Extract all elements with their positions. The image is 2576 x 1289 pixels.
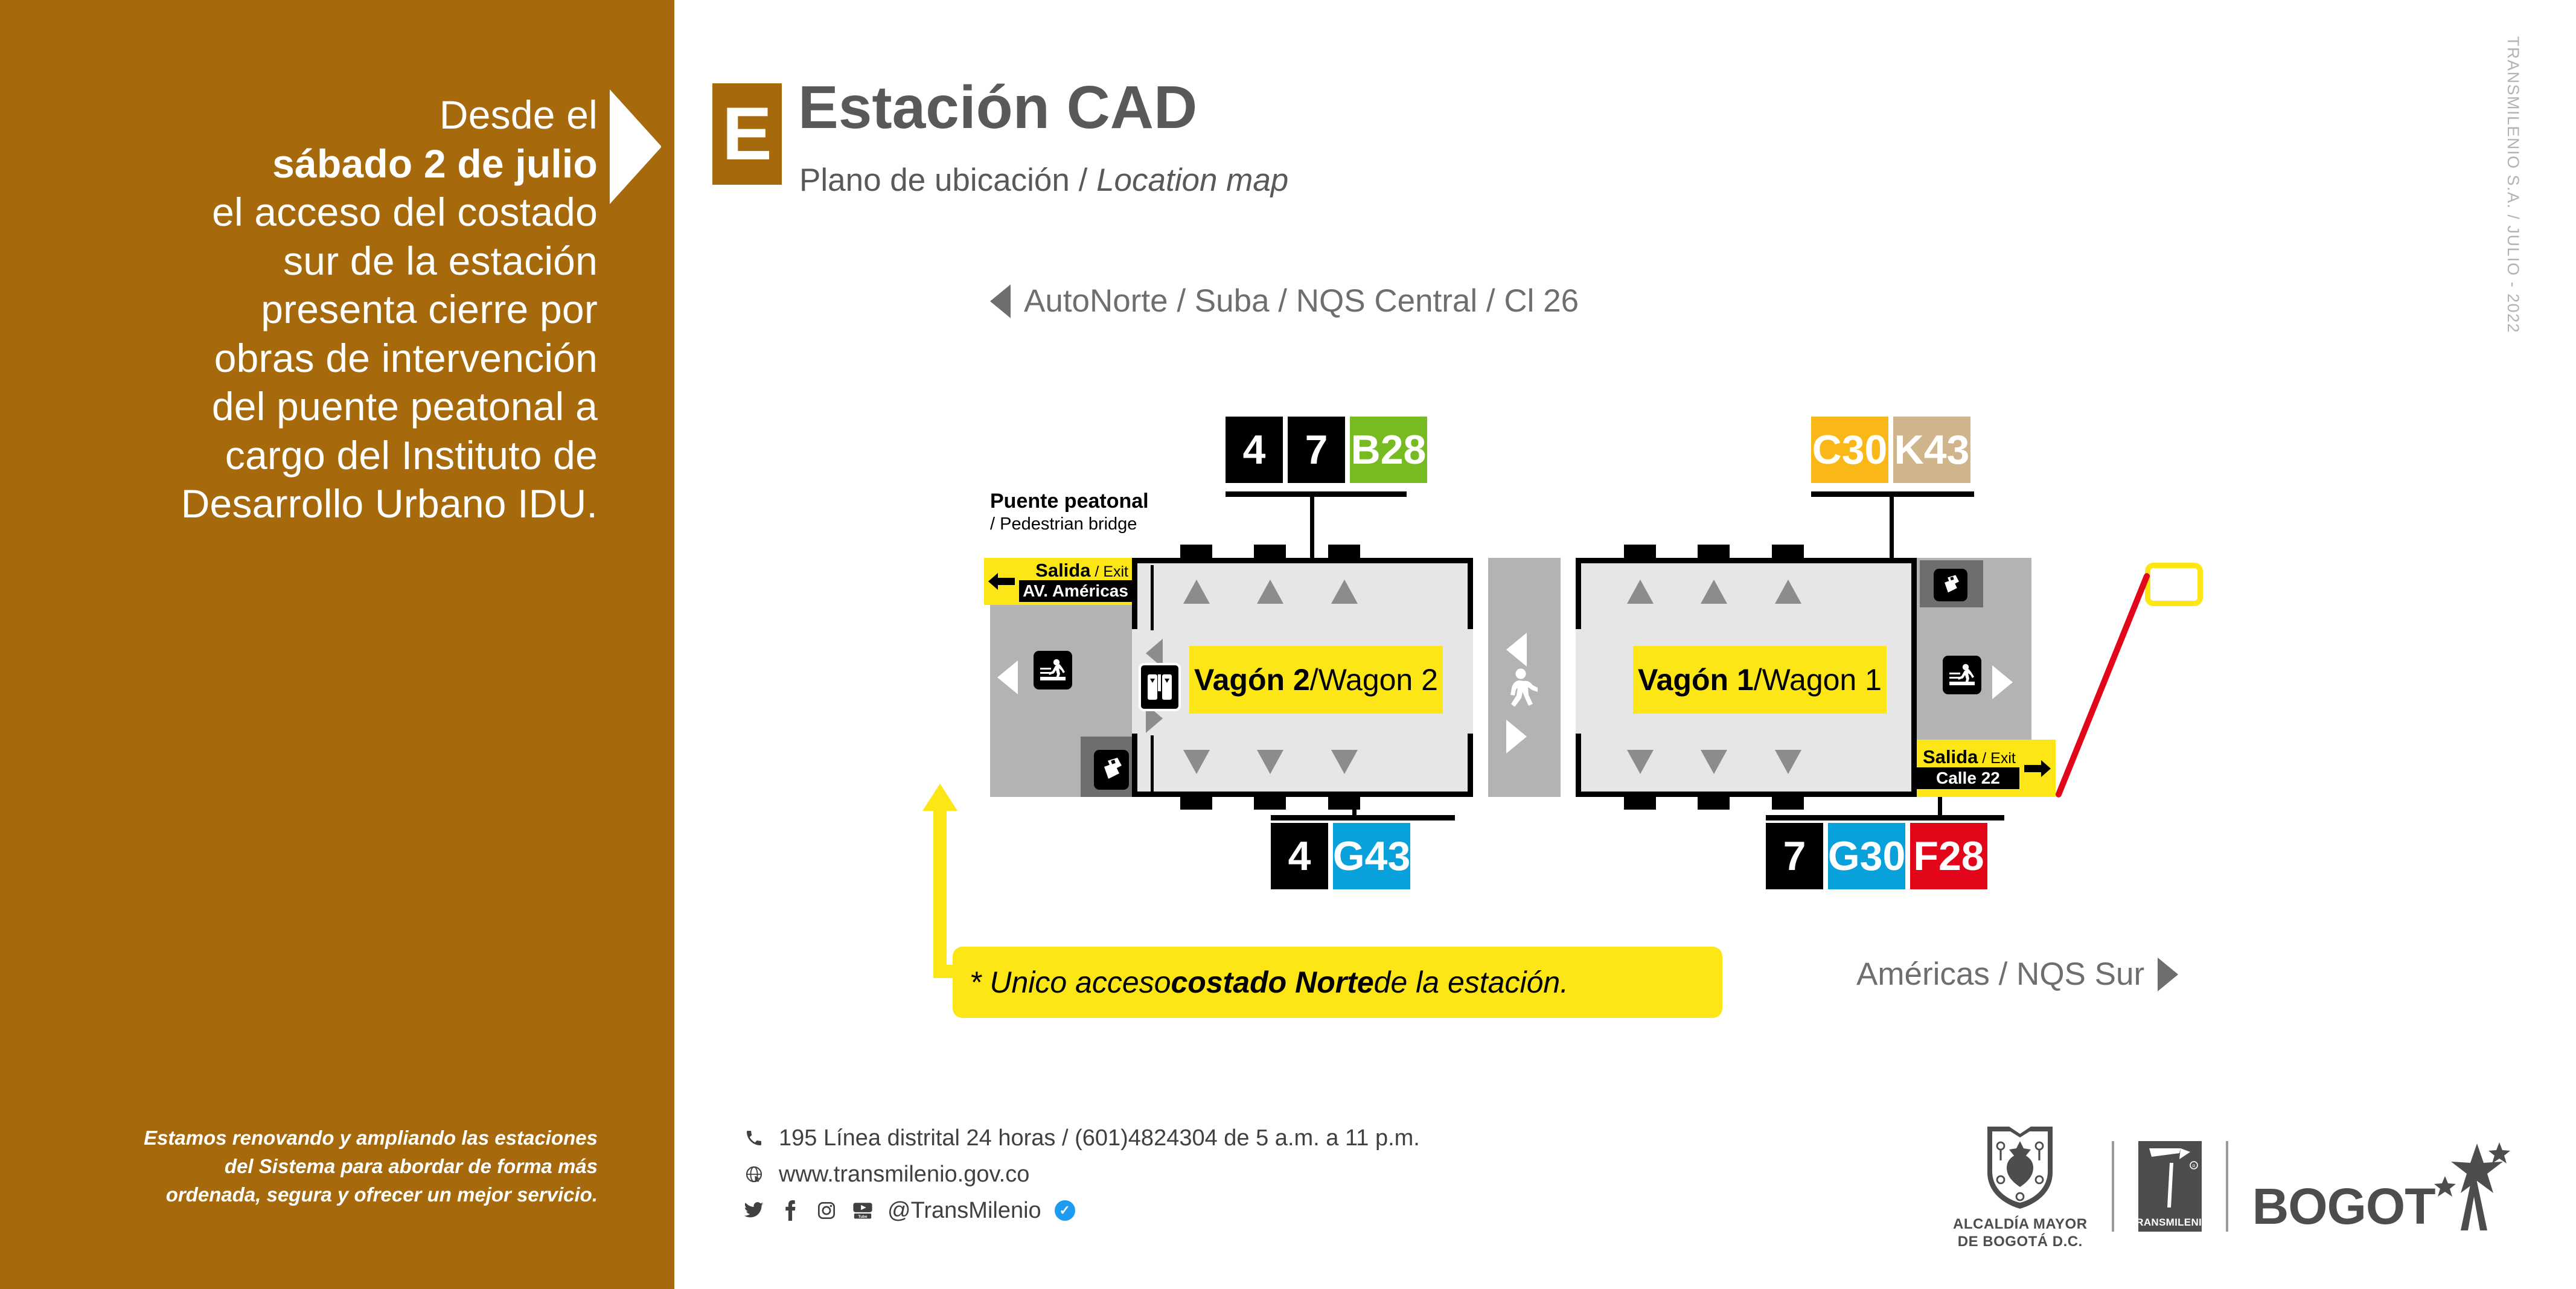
route-badge[interactable]: F28 xyxy=(1910,823,1987,889)
headline-line: obras de intervención xyxy=(36,334,598,383)
crosswalk-icon xyxy=(1034,651,1072,689)
wagon1-door-bottom xyxy=(1698,796,1730,810)
flow-arrow-up xyxy=(1183,580,1210,604)
wagon2-label-sep: / xyxy=(1310,662,1318,697)
bridge-label-en: / Pedestrian bridge xyxy=(990,514,1149,535)
footer-web-row[interactable]: www.transmilenio.gov.co xyxy=(743,1156,1420,1192)
exit-sign-west-top: Salida / Exit xyxy=(1019,561,1132,581)
crosswalk-icon xyxy=(1943,656,1981,694)
exit-sign-west[interactable]: Salida / Exit AV. Américas xyxy=(984,558,1132,605)
wagon1-label-es: Vagón 1 xyxy=(1638,662,1754,697)
exit-sign-west-street: AV. Américas xyxy=(1019,580,1132,602)
flow-arrow-down xyxy=(1183,750,1210,774)
wagon1-door-top xyxy=(1698,545,1730,558)
panel-footer-line: del Sistema para abordar de forma más xyxy=(36,1153,598,1181)
badge-stem xyxy=(1890,491,1894,563)
station-platform-diagram: Salida / Exit AV. Américas xyxy=(990,561,2143,797)
globe-icon xyxy=(743,1163,765,1186)
wagon2-wall-right-b xyxy=(1468,734,1473,797)
wagon1-wall-left-a xyxy=(1576,558,1581,629)
alcaldia-caption-line2: DE BOGOTÁ D.C. xyxy=(1958,1233,2083,1250)
flow-arrow-down xyxy=(1627,750,1654,774)
bogota-star-a-icon xyxy=(2432,1141,2510,1232)
wagon1-label-en: Wagon 1 xyxy=(1762,662,1882,697)
route-badge[interactable]: 4 xyxy=(1271,823,1328,889)
wagon1-wall-right xyxy=(1911,558,1917,797)
exit-word-es: Salida xyxy=(1035,560,1090,581)
institutional-logos: ALCALDÍA MAYOR DE BOGOTÁ D.C. R TRANSMIL… xyxy=(1929,1122,2534,1251)
badge-crossbar xyxy=(1271,815,1455,820)
wagon2-inner-line-bottom xyxy=(1151,735,1154,793)
headline-line: Desarrollo Urbano IDU. xyxy=(36,479,598,528)
alcaldia-logo: ALCALDÍA MAYOR DE BOGOTÁ D.C. xyxy=(1929,1122,2112,1251)
wagon1-wall-top xyxy=(1576,558,1917,563)
footer-phone-row: 195 Línea distrital 24 horas / (601)4824… xyxy=(743,1120,1420,1156)
transmilenio-logo: R TRANSMILENIO xyxy=(2114,1141,2226,1232)
panel-footer-line: Estamos renovando y ampliando las estaci… xyxy=(36,1124,598,1153)
flow-arrow-up xyxy=(1775,580,1801,604)
direction-north: AutoNorte / Suba / NQS Central / Cl 26 xyxy=(990,283,1579,319)
wagon2-label: Vagón 2 / Wagon 2 xyxy=(1189,646,1443,714)
direction-south: Américas / NQS Sur xyxy=(1856,956,2178,993)
badge-stem xyxy=(1352,797,1357,816)
bogota-coat-of-arms-icon xyxy=(1984,1122,2056,1211)
wagon2-door-top xyxy=(1328,545,1360,558)
arrow-left-icon xyxy=(1506,633,1527,667)
arrow-right-icon xyxy=(1506,720,1527,753)
footer-web-text: www.transmilenio.gov.co xyxy=(779,1156,1029,1192)
direction-south-label: Américas / NQS Sur xyxy=(1856,956,2144,993)
pedestrian-icon xyxy=(1506,668,1538,706)
flow-arrow-down xyxy=(1331,750,1358,774)
headline-line: sur de la estación xyxy=(36,237,598,286)
wagon1-label: Vagón 1 / Wagon 1 xyxy=(1633,646,1887,714)
flow-arrow-down xyxy=(1257,750,1283,774)
phone-icon xyxy=(743,1127,765,1150)
headline-line: del puente peatonal a xyxy=(36,382,598,431)
youtube-icon[interactable]: Tube xyxy=(851,1199,874,1222)
station-letter-badge: E xyxy=(712,83,782,185)
wagon2-door-top xyxy=(1254,545,1286,558)
route-badge[interactable]: C30 xyxy=(1811,417,1888,483)
flow-arrow-up xyxy=(1331,580,1358,604)
wagon2-label-en: Wagon 2 xyxy=(1318,662,1438,697)
headline-line: presenta cierre por xyxy=(36,285,598,334)
wagon1-door-top xyxy=(1772,545,1804,558)
exit-word-en: / Exit xyxy=(1090,563,1128,580)
verified-check-icon: ✓ xyxy=(1055,1200,1075,1221)
wagon2-door-bottom xyxy=(1254,796,1286,810)
wagon2-wall-left-a xyxy=(1132,558,1137,629)
bogota-wordmark: BOGOT xyxy=(2252,1181,2435,1232)
footer-social-row: Tube @TransMilenio ✓ xyxy=(743,1192,1420,1229)
exit-sign-east-street: Calle 22 xyxy=(1917,767,2019,789)
wagon1-door-bottom xyxy=(1772,796,1804,810)
exit-word-es: Salida xyxy=(1923,746,1978,767)
arrow-right-icon xyxy=(2158,958,2178,991)
alcaldia-caption-line1: ALCALDÍA MAYOR xyxy=(1953,1216,2088,1232)
wagon2-label-es: Vagón 2 xyxy=(1194,662,1310,697)
turnstile-icon xyxy=(1139,663,1181,711)
route-badges-top-left: 4 7 B28 xyxy=(1226,417,1427,483)
route-badge[interactable]: 7 xyxy=(1288,417,1345,483)
footer-handle: @TransMilenio xyxy=(887,1192,1041,1229)
callout-suffix: de la estación. xyxy=(1374,965,1568,1000)
callout-arrow-shaft-vertical xyxy=(933,797,947,978)
flow-arrow-up xyxy=(1701,580,1727,604)
route-badge[interactable]: 4 xyxy=(1226,417,1283,483)
arrow-left-icon xyxy=(997,660,1018,694)
headline-line: cargo del Instituto de xyxy=(36,431,598,480)
route-badge[interactable]: 7 xyxy=(1766,823,1823,889)
badge-stem xyxy=(1938,797,1942,816)
wagon2-door-top xyxy=(1180,545,1212,558)
svg-text:R: R xyxy=(2192,1164,2195,1168)
card-validator-icon xyxy=(1934,569,1967,601)
route-badge[interactable]: K43 xyxy=(1893,417,1970,483)
callout-prefix: * Unico acceso xyxy=(970,965,1171,1000)
contact-footer: 195 Línea distrital 24 horas / (601)4824… xyxy=(743,1120,1420,1229)
facebook-icon[interactable] xyxy=(779,1199,802,1222)
twitter-icon[interactable] xyxy=(743,1199,765,1222)
flow-arrow-down xyxy=(1701,750,1727,774)
wagon1-door-top xyxy=(1624,545,1656,558)
closed-access-highlight xyxy=(2145,563,2203,606)
callout-emphasis: costado Norte xyxy=(1171,965,1374,1000)
direction-north-label: AutoNorte / Suba / NQS Central / Cl 26 xyxy=(1024,283,1579,319)
alcaldia-caption: ALCALDÍA MAYOR DE BOGOTÁ D.C. xyxy=(1953,1216,2088,1251)
callout-arrow-head-icon xyxy=(922,784,957,811)
exit-sign-east-top: Salida / Exit xyxy=(1917,747,2019,767)
subtitle-sep: / xyxy=(1070,162,1096,198)
flow-arrow-up xyxy=(1627,580,1654,604)
wagon2-wall-right-a xyxy=(1468,558,1473,629)
headline-line-bold: sábado 2 de julio xyxy=(36,139,598,188)
bogota-logo: BOGOT xyxy=(2228,1141,2534,1232)
instagram-icon[interactable] xyxy=(815,1199,838,1222)
page-subtitle: Plano de ubicación / Location map xyxy=(799,164,1288,196)
flow-arrow-down xyxy=(1775,750,1801,774)
route-badges-bottom-right: 7 G30 F28 xyxy=(1766,823,1987,889)
badge-stem xyxy=(1310,491,1314,563)
panel-notch-arrow xyxy=(610,89,662,204)
wagon1-label-sep: / xyxy=(1754,662,1762,697)
wagon2-door-bottom xyxy=(1180,796,1212,810)
callout-note: * Unico acceso costado Norte de la estac… xyxy=(953,947,1722,1018)
subtitle-en: Location map xyxy=(1096,162,1288,198)
transmilenio-mark-icon: R TRANSMILENIO xyxy=(2138,1141,2202,1232)
announcement-headline: Desde el sábado 2 de julio el acceso del… xyxy=(36,91,598,528)
wagon2-wall-left-b xyxy=(1132,734,1137,797)
bridge-label-es: Puente peatonal xyxy=(990,489,1149,514)
pedestrian-bridge-label: Puente peatonal / Pedestrian bridge xyxy=(990,489,1149,535)
card-validator-icon xyxy=(1094,750,1129,790)
route-badge[interactable]: B28 xyxy=(1350,417,1427,483)
arrow-left-icon xyxy=(990,284,1011,318)
flow-arrow-up xyxy=(1257,580,1283,604)
route-badge[interactable]: G43 xyxy=(1333,823,1410,889)
subtitle-es: Plano de ubicación xyxy=(799,162,1070,198)
arrow-left-icon xyxy=(988,571,1015,592)
arrow-right-icon xyxy=(1992,665,2013,699)
exit-word-en: / Exit xyxy=(1978,750,2016,767)
headline-line: Desde el xyxy=(36,91,598,139)
badge-crossbar xyxy=(1226,491,1407,497)
exit-sign-east[interactable]: Salida / Exit Calle 22 xyxy=(1917,740,2056,797)
panel-footer-note: Estamos renovando y ampliando las estaci… xyxy=(36,1124,598,1209)
svg-text:Tube: Tube xyxy=(858,1215,867,1219)
route-badges-top-right: C30 K43 xyxy=(1811,417,1970,483)
footer-phone-text: 195 Línea distrital 24 horas / (601)4824… xyxy=(779,1120,1420,1156)
route-badge[interactable]: G30 xyxy=(1828,823,1905,889)
arrow-right-icon xyxy=(2024,758,2051,779)
wagon1-door-bottom xyxy=(1624,796,1656,810)
wagon1-wall-left-b xyxy=(1576,734,1581,797)
headline-line: el acceso del costado xyxy=(36,188,598,237)
wagon2-wall-top xyxy=(1132,558,1473,563)
route-badges-bottom-left: 4 G43 xyxy=(1271,823,1410,889)
panel-right-strip xyxy=(661,0,674,1289)
badge-crossbar xyxy=(1766,815,2004,820)
wagon2-inner-line-top xyxy=(1151,565,1154,630)
page-title: Estación CAD xyxy=(798,77,1197,138)
document-credit: TRANSMILENIO S.A. / JULIO - 2022 xyxy=(2504,36,2522,333)
panel-footer-line: ordenada, segura y ofrecer un mejor serv… xyxy=(36,1181,598,1209)
